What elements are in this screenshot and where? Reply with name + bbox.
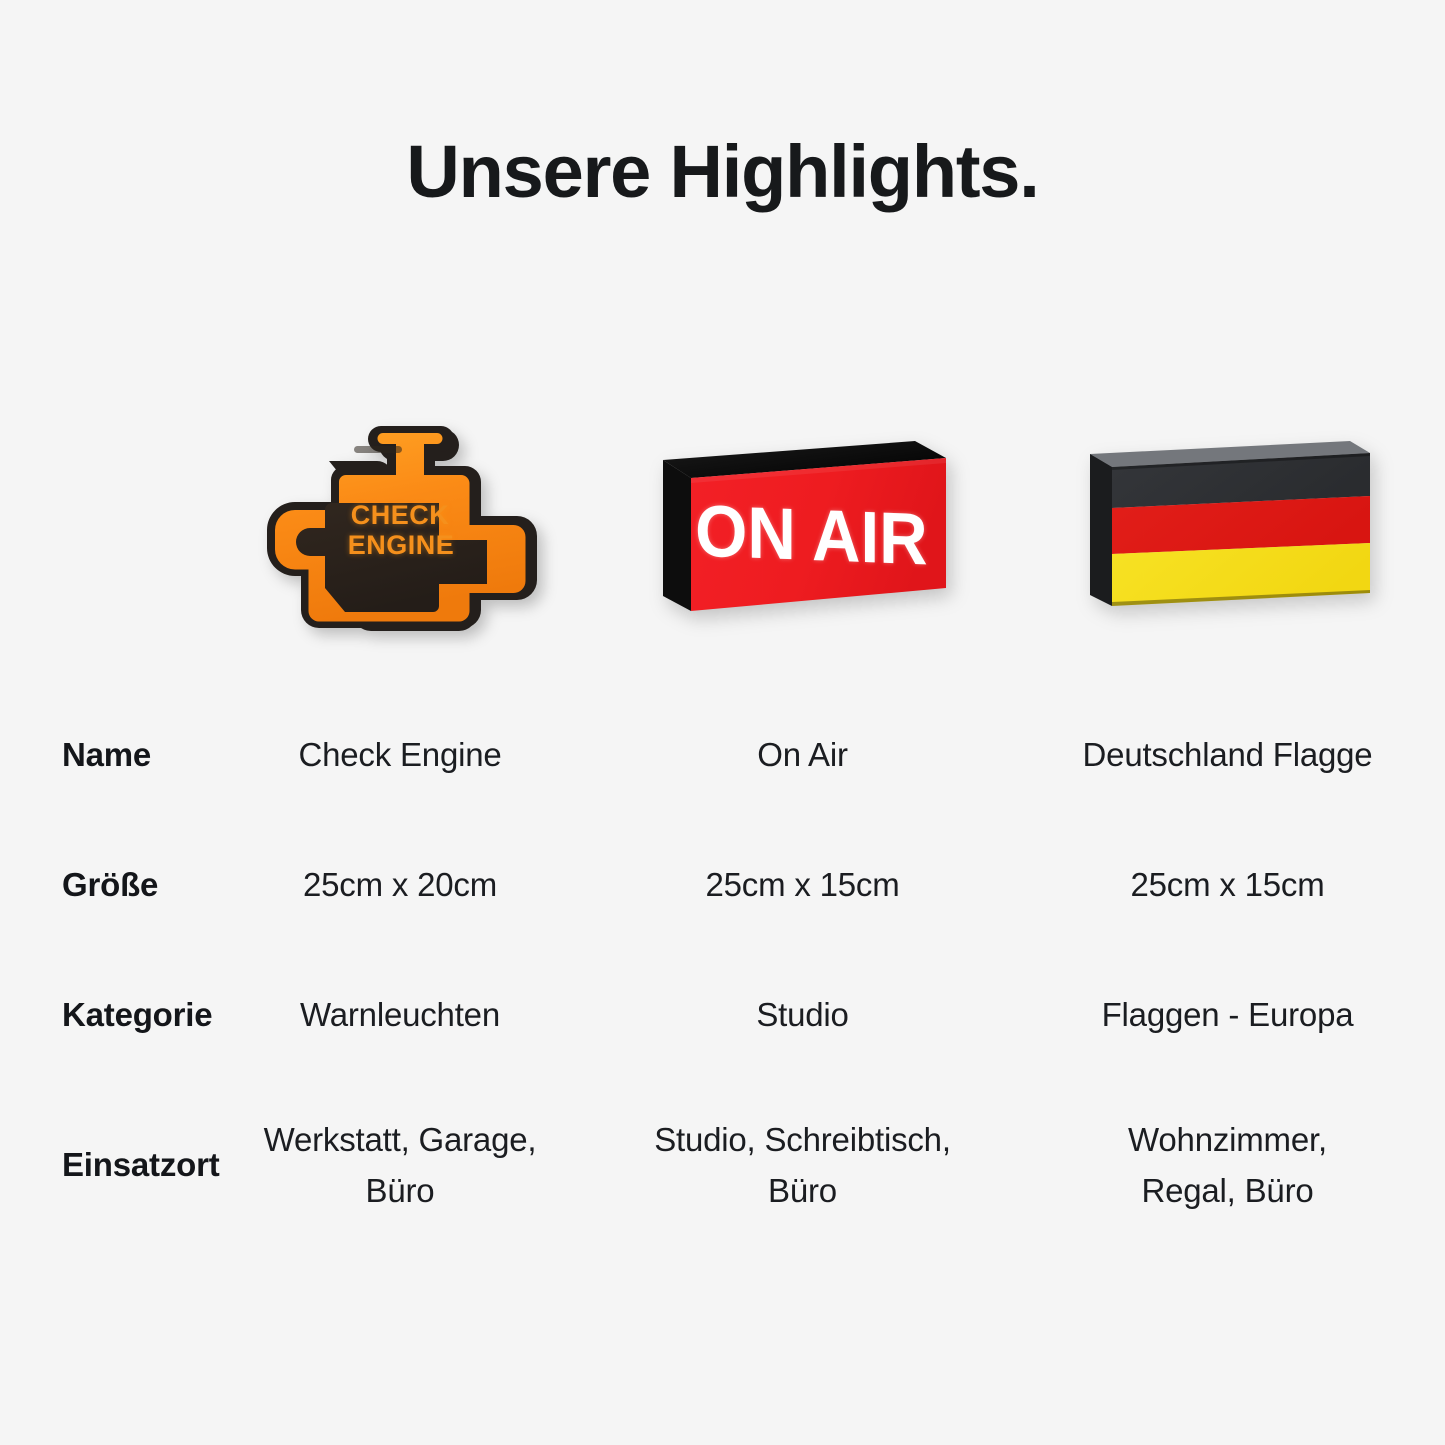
cell-einsatzort-on-air: Studio, Schreibtisch, Büro [595, 1114, 1010, 1216]
on-air-light-box[interactable]: ON AIR [653, 430, 953, 630]
row-label-kategorie: Kategorie [0, 996, 205, 1034]
cell-kategorie-on-air: Studio [595, 989, 1010, 1040]
highlights-page: Unsere Highlights. [0, 0, 1445, 1445]
table-row-kategorie: Kategorie Warnleuchten Studio Flaggen - … [0, 950, 1445, 1080]
row-label-name: Name [0, 736, 205, 774]
cell-name-on-air: On Air [595, 729, 1010, 780]
cell-groesse-deutschland-flagge: 25cm x 15cm [1010, 859, 1445, 910]
product-image-check-engine-cell: CHECK ENGINE [205, 400, 595, 660]
product-image-deutschland-flagge-cell [1010, 400, 1445, 660]
cell-name-deutschland-flagge: Deutschland Flagge [1010, 729, 1445, 780]
cell-einsatzort-deutschland-flagge: Wohnzimmer, Regal, Büro [1010, 1114, 1445, 1216]
cell-groesse-check-engine: 25cm x 20cm [205, 859, 595, 910]
row-label-groesse: Größe [0, 866, 205, 904]
product-row-label-spacer [0, 400, 205, 660]
cell-kategorie-check-engine: Warnleuchten [205, 989, 595, 1040]
table-row-name: Name Check Engine On Air Deutschland Fla… [0, 690, 1445, 820]
product-image-on-air-cell: ON AIR [595, 400, 1010, 660]
cell-name-check-engine: Check Engine [205, 729, 595, 780]
cell-einsatzort-check-engine: Werkstatt, Garage, Büro [205, 1114, 595, 1216]
table-row-einsatzort: Einsatzort Werkstatt, Garage, Büro Studi… [0, 1080, 1445, 1250]
cell-groesse-on-air: 25cm x 15cm [595, 859, 1010, 910]
table-row-groesse: Größe 25cm x 20cm 25cm x 15cm 25cm x 15c… [0, 820, 1445, 950]
cell-kategorie-deutschland-flagge: Flaggen - Europa [1010, 989, 1445, 1040]
spec-table: Name Check Engine On Air Deutschland Fla… [0, 690, 1445, 1250]
germany-flag-light-box[interactable] [1078, 430, 1378, 630]
row-label-einsatzort: Einsatzort [0, 1146, 205, 1184]
page-title: Unsere Highlights. [0, 131, 1445, 212]
product-image-row: CHECK ENGINE [0, 400, 1445, 660]
check-engine-lamp[interactable]: CHECK ENGINE [250, 418, 550, 642]
